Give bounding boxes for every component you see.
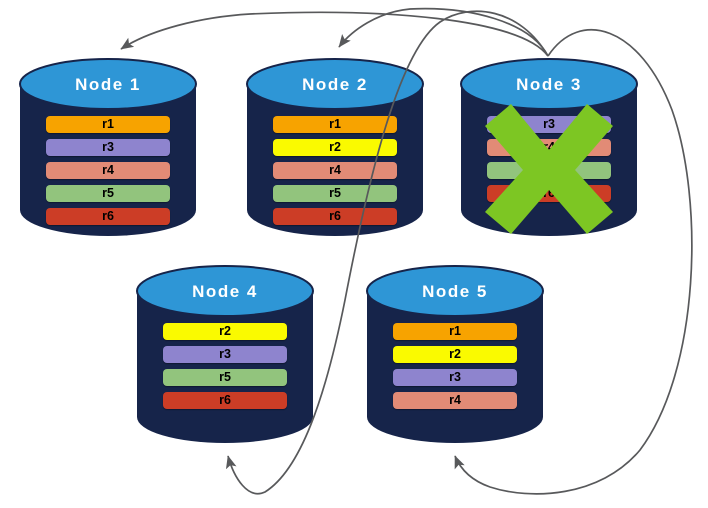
arrow-node3-to-node1 [121, 12, 548, 56]
connection-arrows [0, 0, 708, 508]
diagram-canvas: Node 1 r1 r3 r4 r5 r6 Node 2 r1 r2 r4 r5… [0, 0, 708, 508]
arrow-node3-to-node5 [455, 30, 692, 494]
arrow-node3-to-node2 [339, 9, 548, 56]
arrow-node3-to-node4 [228, 11, 548, 493]
